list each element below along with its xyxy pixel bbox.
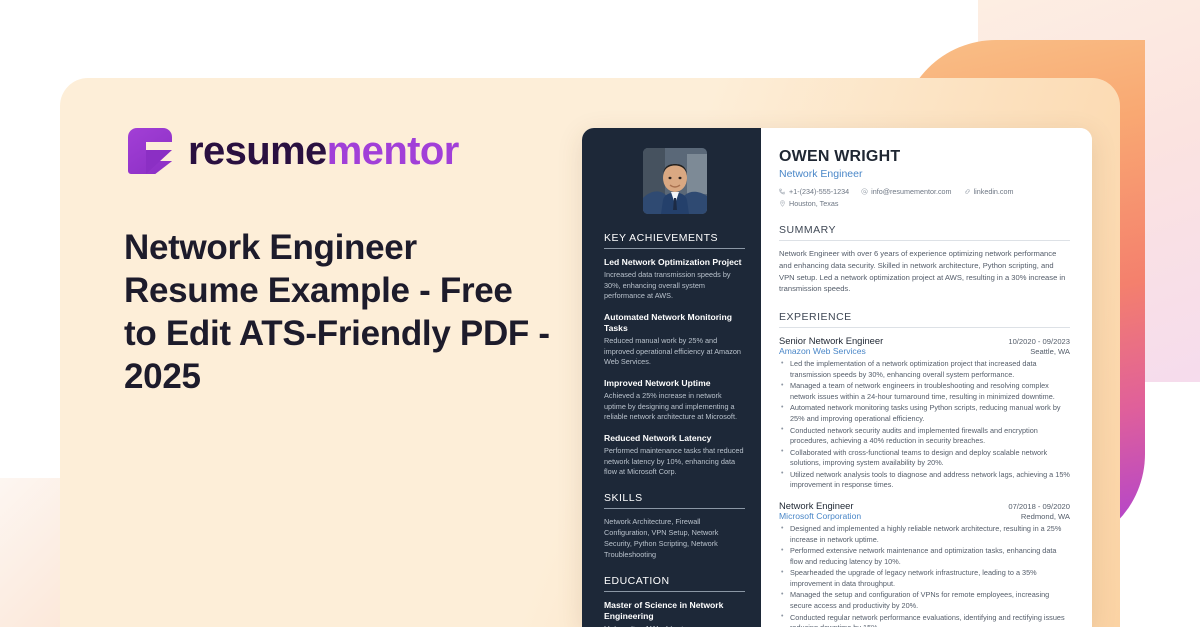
job-title: Senior Network Engineer (779, 335, 883, 346)
achievement-item: Led Network Optimization Project Increas… (604, 257, 745, 302)
achievement-title: Automated Network Monitoring Tasks (604, 312, 745, 334)
education-item: Master of Science in Network Engineering… (604, 600, 745, 627)
contact-link-text: linkedin.com (974, 187, 1014, 196)
resume-preview[interactable]: KEY ACHIEVEMENTS Led Network Optimizatio… (582, 128, 1092, 627)
achievement-item: Improved Network Uptime Achieved a 25% i… (604, 378, 745, 423)
section-heading-experience: EXPERIENCE (779, 311, 1070, 328)
contact-list: +1-(234)-555-1234 info@resumementor.com … (779, 187, 1070, 208)
job-bullet: Conducted network security audits and im… (779, 426, 1070, 447)
job-bullet: Automated network monitoring tasks using… (779, 403, 1070, 424)
job-bullet: Spearheaded the upgrade of legacy networ… (779, 568, 1070, 589)
contact-location-text: Houston, Texas (789, 199, 838, 208)
achievement-title: Improved Network Uptime (604, 378, 745, 389)
resume-main: OWEN WRIGHT Network Engineer +1-(234)-55… (761, 128, 1092, 627)
experience-item: Senior Network Engineer 10/2020 - 09/202… (779, 335, 1070, 491)
page-root: resumementor Network Engineer Resume Exa… (0, 0, 1200, 627)
job-bullets: Designed and implemented a highly reliab… (779, 524, 1070, 627)
contact-email-text: info@resumementor.com (871, 187, 951, 196)
achievement-item: Automated Network Monitoring Tasks Reduc… (604, 312, 745, 368)
section-heading-key-achievements: KEY ACHIEVEMENTS (604, 232, 745, 249)
contact-link: linkedin.com (964, 187, 1014, 196)
resume-logo-icon (128, 128, 172, 174)
link-icon (964, 188, 971, 195)
achievement-desc: Performed maintenance tasks that reduced… (604, 446, 745, 478)
achievement-desc: Reduced manual work by 25% and improved … (604, 336, 745, 368)
contact-location: Houston, Texas (779, 199, 1070, 208)
location-pin-icon (779, 200, 786, 207)
skills-text: Network Architecture, Firewall Configura… (604, 517, 745, 561)
job-company: Microsoft Corporation (779, 511, 861, 521)
section-heading-summary: SUMMARY (779, 224, 1070, 241)
job-bullet: Designed and implemented a highly reliab… (779, 524, 1070, 545)
section-heading-education: EDUCATION (604, 575, 745, 592)
brand-wordmark: resumementor (188, 131, 459, 171)
brand-word-mentor: mentor (327, 129, 459, 173)
brand-word-resume: resume (188, 129, 327, 173)
contact-phone: +1-(234)-555-1234 (779, 187, 849, 196)
contact-email: info@resumementor.com (861, 187, 951, 196)
email-icon (861, 188, 868, 195)
achievement-item: Reduced Network Latency Performed mainte… (604, 433, 745, 478)
job-bullet: Collaborated with cross-functional teams… (779, 448, 1070, 469)
avatar (643, 148, 707, 214)
job-title: Network Engineer (779, 500, 854, 511)
education-degree: Master of Science in Network Engineering (604, 600, 745, 622)
brand-logo[interactable]: resumementor (128, 128, 459, 174)
contact-phone-text: +1-(234)-555-1234 (789, 187, 849, 196)
summary-text: Network Engineer with over 6 years of ex… (779, 248, 1070, 295)
hero-card: resumementor Network Engineer Resume Exa… (60, 78, 1120, 627)
job-bullet: Utilized network analysis tools to diagn… (779, 470, 1070, 491)
job-dates: 10/2020 - 09/2023 (1008, 337, 1070, 346)
job-location: Seattle, WA (1030, 347, 1070, 356)
job-bullet: Managed the setup and configuration of V… (779, 590, 1070, 611)
candidate-role: Network Engineer (779, 168, 1070, 180)
job-company: Amazon Web Services (779, 346, 866, 356)
candidate-name: OWEN WRIGHT (779, 148, 1070, 166)
achievement-title: Led Network Optimization Project (604, 257, 745, 268)
resume-sidebar: KEY ACHIEVEMENTS Led Network Optimizatio… (582, 128, 761, 627)
job-bullet: Managed a team of network engineers in t… (779, 381, 1070, 402)
experience-item: Network Engineer 07/2018 - 09/2020 Micro… (779, 500, 1070, 627)
page-title: Network Engineer Resume Example - Free t… (124, 226, 554, 398)
phone-icon (779, 188, 786, 195)
job-bullet: Performed extensive network maintenance … (779, 546, 1070, 567)
job-bullet: Conducted regular network performance ev… (779, 613, 1070, 627)
job-location: Redmond, WA (1021, 512, 1070, 521)
achievement-desc: Increased data transmission speeds by 30… (604, 270, 745, 302)
achievement-title: Reduced Network Latency (604, 433, 745, 444)
job-dates: 07/2018 - 09/2020 (1008, 502, 1070, 511)
job-bullet: Led the implementation of a network opti… (779, 359, 1070, 380)
section-heading-skills: SKILLS (604, 492, 745, 509)
job-bullets: Led the implementation of a network opti… (779, 359, 1070, 491)
achievement-desc: Achieved a 25% increase in network uptim… (604, 391, 745, 423)
